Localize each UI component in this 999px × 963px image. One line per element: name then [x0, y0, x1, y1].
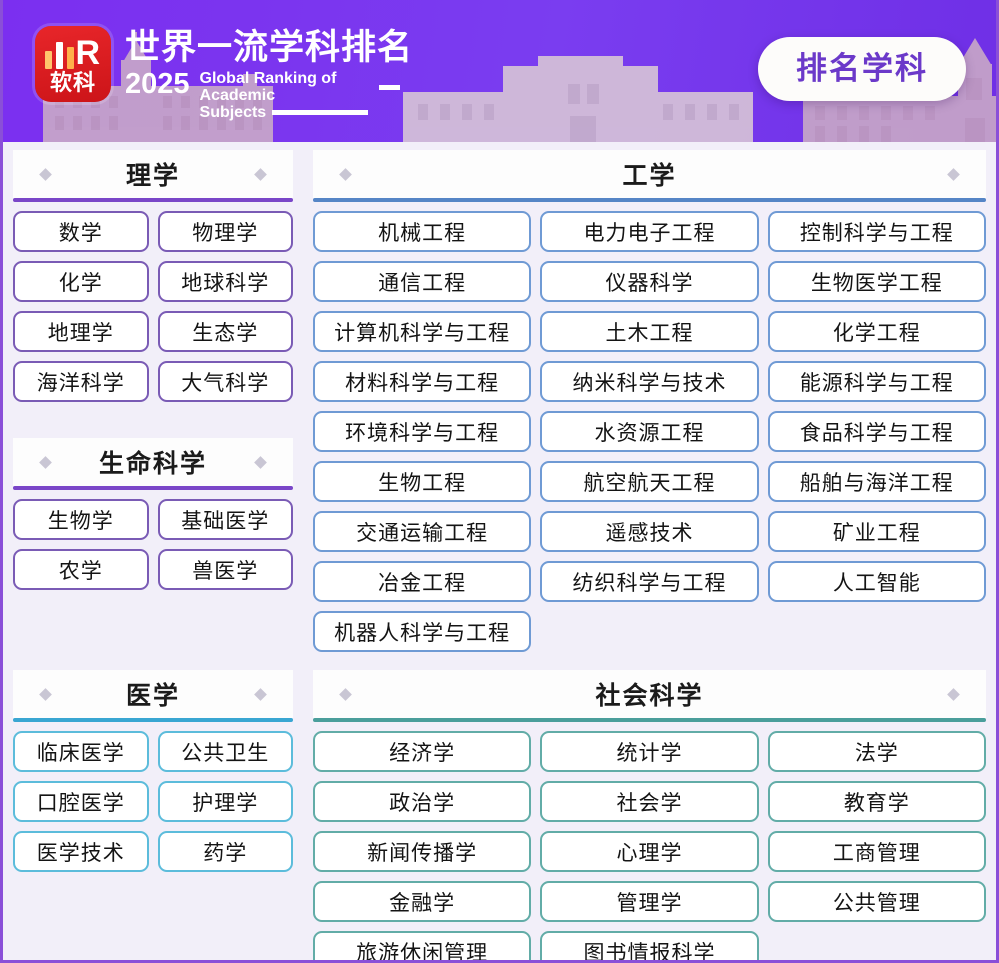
- diamond-ornament-left-icon: [339, 688, 352, 701]
- section-title: 理学: [126, 156, 180, 192]
- subject-tile[interactable]: 化学: [13, 261, 149, 302]
- logo-letter: R: [75, 37, 100, 69]
- subject-tile[interactable]: 海洋科学: [13, 361, 149, 402]
- subject-tile[interactable]: 纳米科学与技术: [540, 361, 758, 402]
- subject-tile[interactable]: 工商管理: [768, 831, 986, 872]
- page-header: R 软科 世界一流学科排名 2025 Global Ranking of Aca…: [3, 0, 996, 142]
- section-header-social-sciences: 社会科学: [313, 670, 986, 718]
- subject-tile[interactable]: 心理学: [540, 831, 758, 872]
- subject-tile[interactable]: 旅游休闲管理: [313, 931, 531, 963]
- section-accent-rule: [313, 198, 986, 202]
- subject-tile-grid: 临床医学 公共卫生 口腔医学 护理学 医学技术 药学: [13, 731, 293, 872]
- subject-tile[interactable]: 新闻传播学: [313, 831, 531, 872]
- section-social-sciences: 社会科学 经济学 统计学 法学 政治学 社会学 教育学 新闻传播学 心理学 工商…: [303, 662, 996, 963]
- subject-tile[interactable]: 矿业工程: [768, 511, 986, 552]
- page-title-cn: 世界一流学科排名: [125, 28, 413, 68]
- diamond-ornament-right-icon: [254, 456, 267, 469]
- subject-tile[interactable]: 口腔医学: [13, 781, 149, 822]
- diamond-ornament-right-icon: [947, 688, 960, 701]
- board-column-right-bottom: 社会科学 经济学 统计学 法学 政治学 社会学 教育学 新闻传播学 心理学 工商…: [303, 662, 996, 963]
- subject-tile[interactable]: 护理学: [158, 781, 294, 822]
- subject-tile[interactable]: 仪器科学: [540, 261, 758, 302]
- subject-tile[interactable]: 公共卫生: [158, 731, 294, 772]
- section-spacer: [3, 412, 303, 430]
- subject-tile[interactable]: 临床医学: [13, 731, 149, 772]
- diamond-ornament-right-icon: [254, 688, 267, 701]
- subject-tile[interactable]: 电力电子工程: [540, 211, 758, 252]
- subject-tile[interactable]: 机械工程: [313, 211, 531, 252]
- subject-tile[interactable]: 医学技术: [13, 831, 149, 872]
- subject-tile[interactable]: 人工智能: [768, 561, 986, 602]
- section-life-sciences: 生命科学 生物学 基础医学 农学 兽医学: [3, 430, 303, 600]
- subject-tile[interactable]: 化学工程: [768, 311, 986, 352]
- section-title: 工学: [622, 156, 676, 192]
- section-title: 医学: [126, 676, 180, 712]
- subject-tile[interactable]: 环境科学与工程: [313, 411, 531, 452]
- subject-tile[interactable]: 图书情报科学: [540, 931, 758, 963]
- board-row-top: 理学 数学 物理学 化学 地球科学 地理学 生态学 海洋科学 大气科学: [3, 142, 996, 662]
- subject-tile[interactable]: 教育学: [768, 781, 986, 822]
- subject-tile[interactable]: 生物学: [13, 499, 149, 540]
- section-header-engineering: 工学: [313, 150, 986, 198]
- page-title-en-line2: Subjects: [200, 104, 267, 121]
- subject-tile[interactable]: 纺织科学与工程: [540, 561, 758, 602]
- title-rule-long: [272, 110, 368, 115]
- subject-tile[interactable]: 物理学: [158, 211, 294, 252]
- subject-tile[interactable]: 生态学: [158, 311, 294, 352]
- subject-tile[interactable]: 土木工程: [540, 311, 758, 352]
- subject-tile[interactable]: 统计学: [540, 731, 758, 772]
- subject-tile[interactable]: 控制科学与工程: [768, 211, 986, 252]
- subject-tile[interactable]: 计算机科学与工程: [313, 311, 531, 352]
- subject-tile-grid: 生物学 基础医学 农学 兽医学: [13, 499, 293, 590]
- subject-tile[interactable]: 冶金工程: [313, 561, 531, 602]
- subject-tile[interactable]: 遥感技术: [540, 511, 758, 552]
- subject-tile[interactable]: 法学: [768, 731, 986, 772]
- subject-tile[interactable]: 水资源工程: [540, 411, 758, 452]
- section-accent-rule: [13, 198, 293, 202]
- section-header-life-sciences: 生命科学: [13, 438, 293, 486]
- subject-tile[interactable]: 农学: [13, 549, 149, 590]
- subject-tile[interactable]: 数学: [13, 211, 149, 252]
- board-column-left-bottom: 医学 临床医学 公共卫生 口腔医学 护理学 医学技术 药学: [3, 662, 303, 882]
- subject-tile[interactable]: 交通运输工程: [313, 511, 531, 552]
- section-natural-sciences: 理学 数学 物理学 化学 地球科学 地理学 生态学 海洋科学 大气科学: [3, 142, 303, 412]
- diamond-ornament-right-icon: [254, 168, 267, 181]
- section-title: 生命科学: [99, 444, 207, 480]
- shanghai-ranking-logo-icon: R 软科: [35, 26, 111, 102]
- subject-tile[interactable]: 兽医学: [158, 549, 294, 590]
- subject-tile[interactable]: 药学: [158, 831, 294, 872]
- subject-tile[interactable]: 航空航天工程: [540, 461, 758, 502]
- section-accent-rule: [13, 718, 293, 722]
- diamond-ornament-left-icon: [39, 456, 52, 469]
- edition-year: 2025: [125, 70, 190, 98]
- subject-board: 理学 数学 物理学 化学 地球科学 地理学 生态学 海洋科学 大气科学: [3, 142, 996, 963]
- board-column-left-top: 理学 数学 物理学 化学 地球科学 地理学 生态学 海洋科学 大气科学: [3, 142, 303, 600]
- board-row-bottom: 医学 临床医学 公共卫生 口腔医学 护理学 医学技术 药学: [3, 662, 996, 963]
- subject-tile[interactable]: 管理学: [540, 881, 758, 922]
- subject-tile-grid: 机械工程 电力电子工程 控制科学与工程 通信工程 仪器科学 生物医学工程 计算机…: [313, 211, 986, 652]
- subject-tile[interactable]: 材料科学与工程: [313, 361, 531, 402]
- subject-tile-grid: 经济学 统计学 法学 政治学 社会学 教育学 新闻传播学 心理学 工商管理 金融…: [313, 731, 986, 963]
- subject-tile[interactable]: 机器人科学与工程: [313, 611, 531, 652]
- section-medicine: 医学 临床医学 公共卫生 口腔医学 护理学 医学技术 药学: [3, 662, 303, 882]
- logo-wordmark-cn: 软科: [35, 71, 111, 95]
- diamond-ornament-left-icon: [39, 168, 52, 181]
- section-accent-rule: [313, 718, 986, 722]
- subject-tile[interactable]: 能源科学与工程: [768, 361, 986, 402]
- page-root: R 软科 世界一流学科排名 2025 Global Ranking of Aca…: [0, 0, 999, 963]
- brand-lockup: R 软科 世界一流学科排名 2025 Global Ranking of Aca…: [35, 26, 413, 121]
- subject-tile[interactable]: 通信工程: [313, 261, 531, 302]
- subject-tile[interactable]: 金融学: [313, 881, 531, 922]
- section-header-natural-sciences: 理学: [13, 150, 293, 198]
- diamond-ornament-left-icon: [39, 688, 52, 701]
- subject-tile[interactable]: 船舶与海洋工程: [768, 461, 986, 502]
- diamond-ornament-right-icon: [947, 168, 960, 181]
- title-rule-short: [379, 85, 400, 90]
- subject-tile[interactable]: 大气科学: [158, 361, 294, 402]
- ranked-subjects-badge-label: 排名学科: [796, 51, 928, 86]
- subject-tile-grid: 数学 物理学 化学 地球科学 地理学 生态学 海洋科学 大气科学: [13, 211, 293, 402]
- logo-bars: [45, 39, 74, 69]
- subject-tile[interactable]: 生物医学工程: [768, 261, 986, 302]
- page-title-en-line1: Global Ranking of Academic: [200, 70, 373, 104]
- section-engineering: 工学 机械工程 电力电子工程 控制科学与工程 通信工程 仪器科学 生物医学工程 …: [303, 142, 996, 662]
- diamond-ornament-left-icon: [339, 168, 352, 181]
- ranked-subjects-badge[interactable]: 排名学科: [758, 37, 966, 101]
- section-title: 社会科学: [595, 676, 703, 712]
- subject-tile[interactable]: 地球科学: [158, 261, 294, 302]
- section-accent-rule: [13, 486, 293, 490]
- section-header-medicine: 医学: [13, 670, 293, 718]
- subject-tile[interactable]: 经济学: [313, 731, 531, 772]
- subject-tile[interactable]: 政治学: [313, 781, 531, 822]
- subject-tile[interactable]: 地理学: [13, 311, 149, 352]
- board-column-right-top: 工学 机械工程 电力电子工程 控制科学与工程 通信工程 仪器科学 生物医学工程 …: [303, 142, 996, 662]
- subject-tile[interactable]: 生物工程: [313, 461, 531, 502]
- subject-tile[interactable]: 基础医学: [158, 499, 294, 540]
- subject-tile[interactable]: 社会学: [540, 781, 758, 822]
- subject-tile[interactable]: 公共管理: [768, 881, 986, 922]
- subject-tile[interactable]: 食品科学与工程: [768, 411, 986, 452]
